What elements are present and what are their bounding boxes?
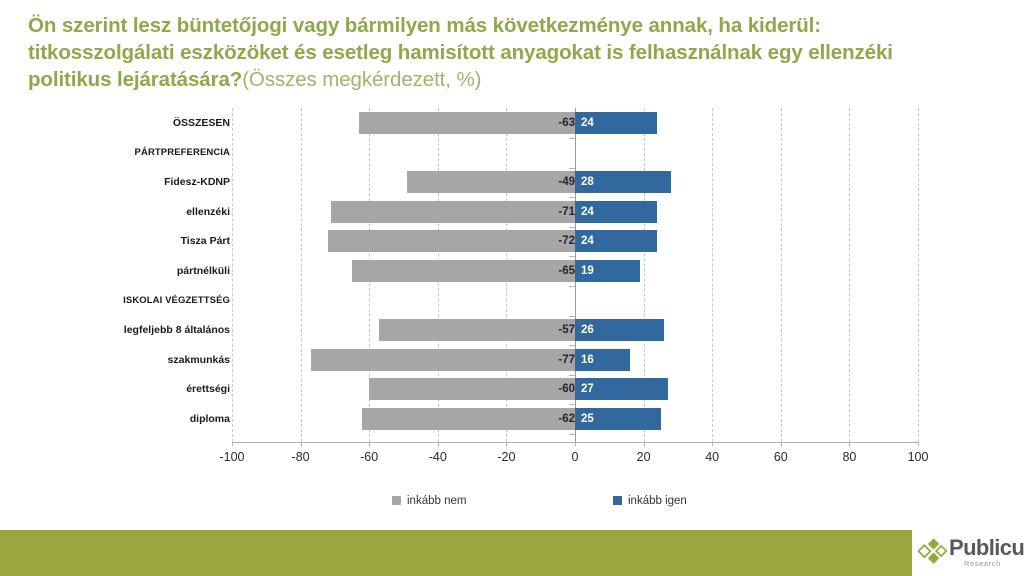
plot-area: -100-80-60-40-20020406080100ÖSSZESEN-632…: [0, 104, 1024, 514]
gridline: [232, 108, 233, 442]
legend-label: inkább igen: [628, 495, 687, 507]
gridline: [918, 108, 919, 442]
bar-value-label-positive: 26: [575, 319, 631, 341]
bar-value-label-positive: 28: [575, 171, 631, 193]
category-tick: [569, 256, 575, 257]
gridline: [301, 108, 302, 442]
category-label: Tisza Párt: [0, 235, 230, 247]
x-axis-tick-label: -60: [339, 450, 399, 464]
bar-value-label-positive: 25: [575, 408, 631, 430]
category-label: pártnélküli: [0, 265, 230, 277]
x-axis-tick-label: 0: [545, 450, 605, 464]
category-tick: [569, 345, 575, 346]
x-axis-line: [232, 442, 918, 443]
category-tick: [569, 197, 575, 198]
category-label: ellenzéki: [0, 206, 230, 218]
bar-value-label-positive: 24: [575, 230, 631, 252]
bar-value-label-positive: 24: [575, 201, 631, 223]
bar-value-label-negative: -77: [515, 349, 580, 371]
category-label: Fidesz-KDNP: [0, 176, 230, 188]
category-tick: [569, 286, 575, 287]
chart-legend: inkább neminkább igen: [0, 492, 1024, 514]
legend-item[interactable]: inkább igen: [613, 492, 687, 510]
category-label: diploma: [0, 413, 230, 425]
title-line-1: Ön szerint lesz büntetőjogi vagy bármily…: [28, 12, 988, 39]
category-tick: [569, 375, 575, 376]
bar-value-label-negative: -49: [515, 171, 580, 193]
x-axis-tick-label: -20: [476, 450, 536, 464]
x-axis-tick-label: 60: [751, 450, 811, 464]
category-label: szakmunkás: [0, 354, 230, 366]
bar-value-label-negative: -63: [515, 112, 580, 134]
category-label: érettségi: [0, 383, 230, 395]
bar-value-label-negative: -72: [515, 230, 580, 252]
logo-tagline: Research: [964, 559, 1001, 568]
gridline: [712, 108, 713, 442]
footer-green-bar: [0, 530, 912, 576]
category-tick: [569, 404, 575, 405]
bar-value-label-negative: -60: [515, 378, 580, 400]
category-label: legfeljebb 8 általános: [0, 324, 230, 336]
x-axis-tick-label: 20: [614, 450, 674, 464]
legend-swatch: [392, 496, 401, 505]
bar-value-label-negative: -62: [515, 408, 580, 430]
category-tick: [569, 168, 575, 169]
category-tick: [569, 227, 575, 228]
gridline: [849, 108, 850, 442]
bar-value-label-negative: -65: [515, 260, 580, 282]
publicus-research-logo: Publicus Research: [918, 532, 1024, 574]
x-axis-tick: [918, 442, 919, 446]
legend-label: inkább nem: [407, 495, 466, 507]
bar-value-label-positive: 27: [575, 378, 631, 400]
x-axis-tick-label: -40: [408, 450, 468, 464]
title-line-2: titkosszolgálati eszközöket és esetleg h…: [28, 39, 988, 66]
x-axis-tick-label: 40: [682, 450, 742, 464]
bar-value-label-negative: -57: [515, 319, 580, 341]
x-axis-tick-label: -100: [202, 450, 262, 464]
title-main-text: politikus lejáratására?: [28, 68, 242, 91]
category-tick: [569, 434, 575, 435]
category-label: PÁRTPREFERENCIA: [0, 147, 230, 158]
category-label: ÖSSZESEN: [0, 117, 230, 129]
category-label: ISKOLAI VÉGZETTSÉG: [0, 295, 230, 306]
x-axis-tick-label: -80: [271, 450, 331, 464]
logo-wordmark: Publicus: [949, 536, 1024, 560]
x-axis-tick-label: 100: [888, 450, 948, 464]
diamond-cluster-icon: [918, 538, 948, 568]
diverging-bar-chart: -100-80-60-40-20020406080100ÖSSZESEN-632…: [0, 104, 1024, 514]
legend-item[interactable]: inkább nem: [392, 492, 466, 510]
bar-value-label-positive: 16: [575, 349, 631, 371]
title-line-3: politikus lejáratására?(Összes megkérdez…: [28, 66, 988, 93]
title-subtitle: (Összes megkérdezett, %): [242, 68, 481, 91]
legend-swatch: [613, 496, 622, 505]
page-title: Ön szerint lesz büntetőjogi vagy bármily…: [28, 12, 988, 93]
category-tick: [569, 316, 575, 317]
bar-value-label-positive: 24: [575, 112, 631, 134]
category-tick: [569, 138, 575, 139]
bar-value-label-negative: -71: [515, 201, 580, 223]
gridline: [781, 108, 782, 442]
x-axis-tick-label: 80: [819, 450, 879, 464]
bar-value-label-positive: 19: [575, 260, 631, 282]
